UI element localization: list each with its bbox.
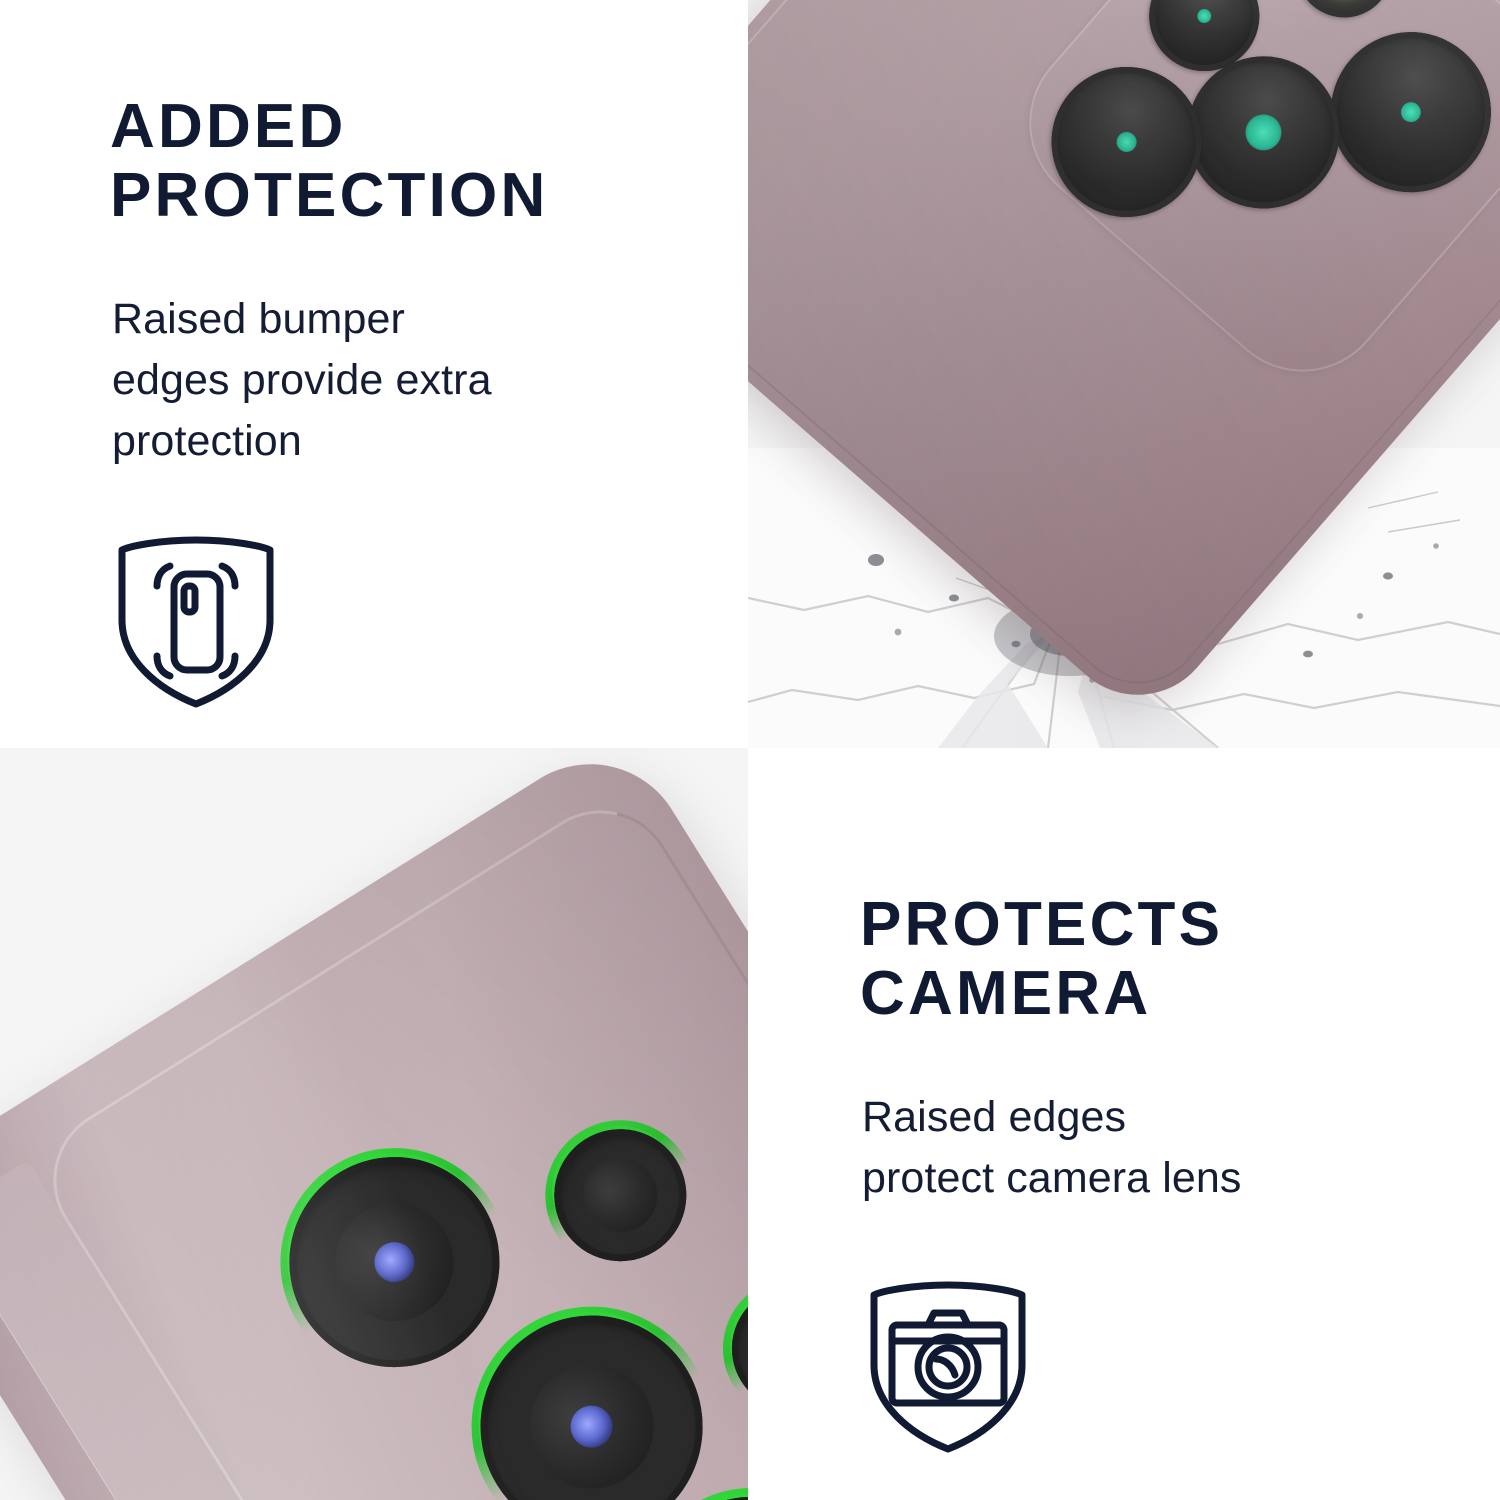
lens-flash bbox=[1276, 0, 1411, 37]
phone-case-body-closeup bbox=[0, 748, 748, 1500]
lens-pupil bbox=[562, 1397, 620, 1455]
headline-line-2: PROTECTION bbox=[110, 161, 710, 230]
body-line-3: protection bbox=[112, 411, 710, 472]
lens-glint bbox=[1396, 97, 1425, 126]
body-line-1: Raised bumper bbox=[112, 289, 710, 350]
feature-grid: ADDED PROTECTION Raised bumper edges pro… bbox=[0, 0, 1500, 1500]
lens-barrel bbox=[569, 1144, 671, 1246]
panel-protects-camera: PROTECTS CAMERA Raised edges protect cam… bbox=[748, 748, 1500, 1500]
green-rim bbox=[517, 1092, 724, 1299]
headline-line-1: PROTECTS bbox=[860, 890, 1460, 959]
flash-bulb bbox=[1308, 0, 1381, 6]
added-protection-content: ADDED PROTECTION Raised bumper edges pro… bbox=[110, 92, 710, 710]
camera-closeup-scene bbox=[0, 748, 748, 1500]
lens-main-wide bbox=[1298, 0, 1500, 225]
camera-island bbox=[994, 0, 1500, 407]
lens-barrel bbox=[506, 1341, 677, 1500]
protects-camera-headline: PROTECTS CAMERA bbox=[860, 890, 1460, 1029]
green-rim bbox=[426, 1261, 748, 1500]
cutout-lens-ultra-wide bbox=[529, 1104, 711, 1286]
camera-in-shield-icon bbox=[862, 1279, 1034, 1455]
cutout-lens-wide bbox=[250, 1117, 539, 1406]
drop-impact-scene bbox=[748, 0, 1500, 748]
photo-drop-impact bbox=[748, 0, 1500, 748]
body-line-2: protect camera lens bbox=[862, 1148, 1460, 1209]
added-protection-icon-wrap bbox=[112, 534, 710, 710]
panel-added-protection: ADDED PROTECTION Raised bumper edges pro… bbox=[0, 0, 748, 748]
photo-camera-closeup bbox=[0, 748, 748, 1500]
lens-glint bbox=[1194, 6, 1214, 26]
raised-edge-lip bbox=[25, 782, 748, 1500]
protects-camera-icon-wrap bbox=[862, 1279, 1460, 1455]
green-rim bbox=[237, 1105, 551, 1419]
body-line-2: edges provide extra bbox=[112, 350, 710, 411]
lens-barrel bbox=[313, 1181, 475, 1343]
cutout-lens-macro bbox=[613, 1459, 748, 1500]
lens-depth bbox=[1021, 36, 1233, 248]
protects-camera-body: Raised edges protect camera lens bbox=[862, 1087, 1460, 1209]
body-line-1: Raised edges bbox=[862, 1087, 1460, 1148]
green-rim bbox=[601, 1447, 748, 1500]
protects-camera-content: PROTECTS CAMERA Raised edges protect cam… bbox=[860, 890, 1460, 1455]
added-protection-headline: ADDED PROTECTION bbox=[110, 92, 710, 231]
lens-glint bbox=[1113, 128, 1141, 156]
lens-telephoto bbox=[1127, 0, 1282, 94]
lens-ultra-wide bbox=[1156, 25, 1370, 239]
added-protection-body: Raised bumper edges provide extra protec… bbox=[112, 289, 710, 472]
lens-glint bbox=[1238, 107, 1289, 158]
green-rim bbox=[696, 1251, 748, 1447]
cutout-flash bbox=[708, 1263, 748, 1434]
raised-bumper-ridge bbox=[0, 1160, 587, 1500]
phone-in-shield-icon bbox=[112, 534, 280, 710]
headline-line-2: CAMERA bbox=[860, 959, 1460, 1028]
lens-pupil bbox=[367, 1235, 422, 1290]
cutout-lens-main bbox=[439, 1274, 745, 1500]
headline-line-1: ADDED bbox=[110, 92, 710, 161]
